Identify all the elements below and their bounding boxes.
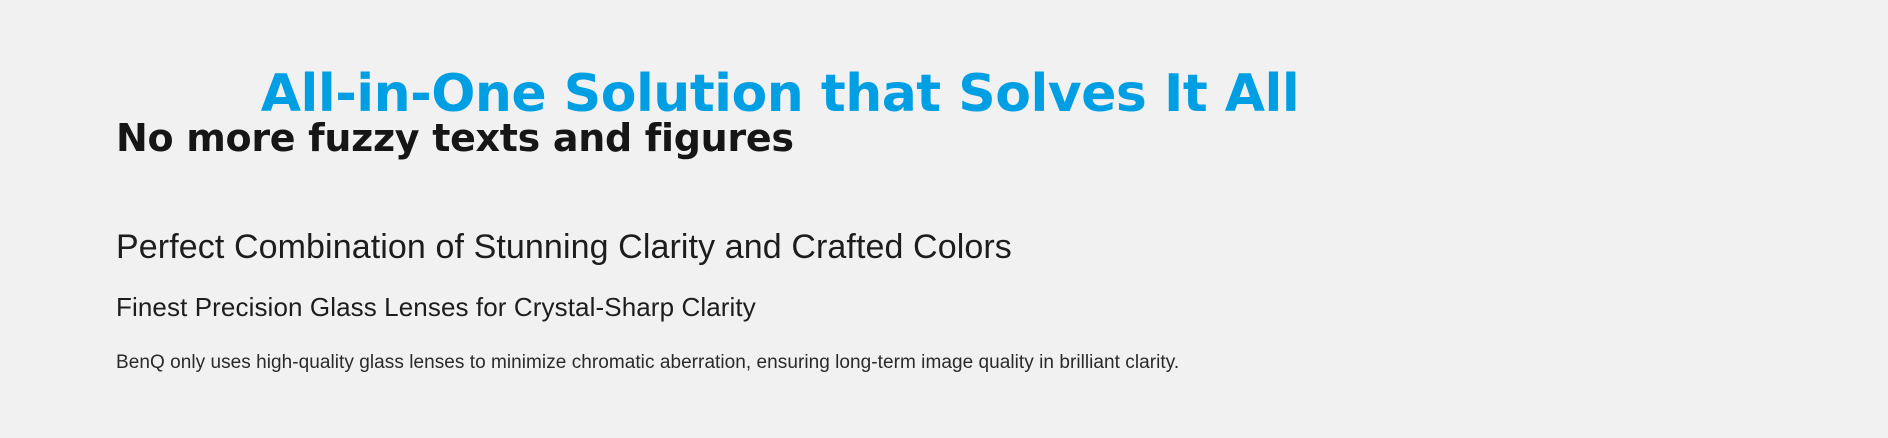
- feature-subtitle: Finest Precision Glass Lenses for Crysta…: [116, 288, 1716, 326]
- marketing-page: All-in-One Solution that Solves It All N…: [0, 0, 1888, 438]
- content-column: No more fuzzy texts and figures Perfect …: [116, 112, 1716, 378]
- feature-title: Perfect Combination of Stunning Clarity …: [116, 224, 1716, 270]
- feature-body-text: BenQ only uses high-quality glass lenses…: [116, 348, 1716, 378]
- feature-block: Perfect Combination of Stunning Clarity …: [116, 224, 1716, 378]
- section-heading: No more fuzzy texts and figures: [116, 112, 1716, 164]
